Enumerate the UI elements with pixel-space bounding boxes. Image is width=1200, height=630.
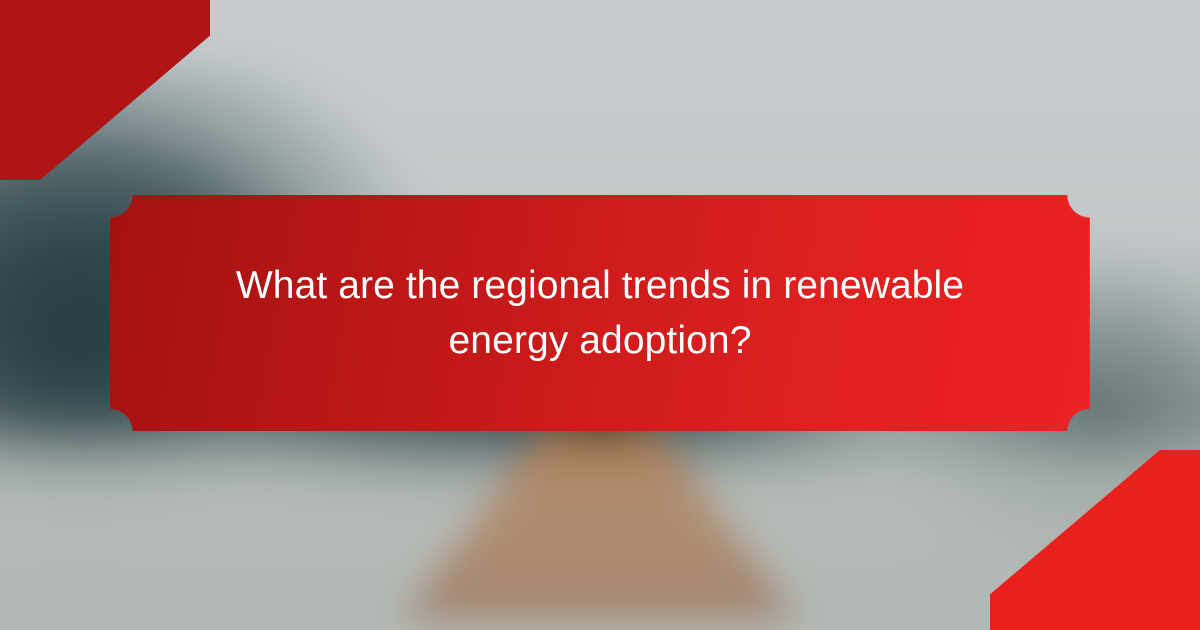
question-banner: What are the regional trends in renewabl… bbox=[110, 195, 1090, 431]
question-card-canvas: What are the regional trends in renewabl… bbox=[0, 0, 1200, 630]
question-text: What are the regional trends in renewabl… bbox=[220, 258, 980, 369]
